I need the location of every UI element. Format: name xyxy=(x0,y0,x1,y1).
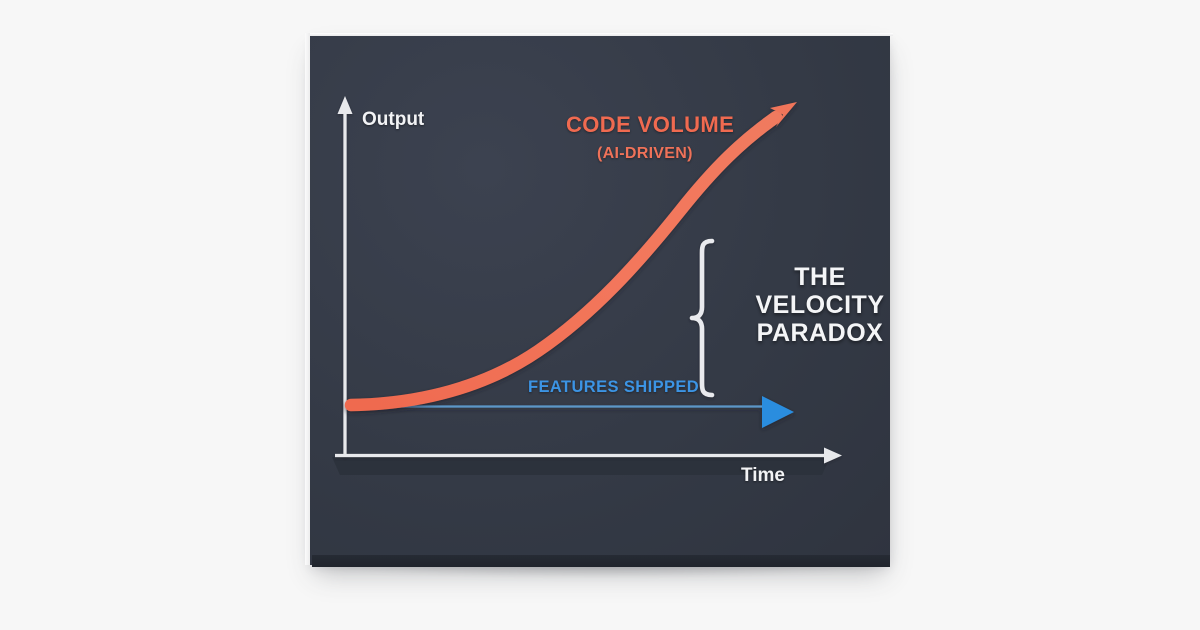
velocity-paradox-callout: THE VELOCITY PARADOX xyxy=(750,263,890,347)
code-volume-sublabel: (AI-DRIVEN) xyxy=(597,146,693,162)
x-axis-label: Time xyxy=(741,466,785,485)
callout-line-1: THE xyxy=(750,263,890,291)
screenshot-stage: Output Time CODE VOLUME (AI-DRIVEN) FEAT… xyxy=(0,0,1200,630)
callout-line-3: PARADOX xyxy=(750,319,890,347)
features-shipped-label: FEATURES SHIPPED xyxy=(528,379,699,396)
code-volume-curve xyxy=(351,102,797,405)
y-axis-label: Output xyxy=(362,110,424,129)
velocity-gap-brace xyxy=(692,241,712,395)
callout-line-2: VELOCITY xyxy=(750,291,890,319)
code-volume-label: CODE VOLUME xyxy=(566,114,734,136)
